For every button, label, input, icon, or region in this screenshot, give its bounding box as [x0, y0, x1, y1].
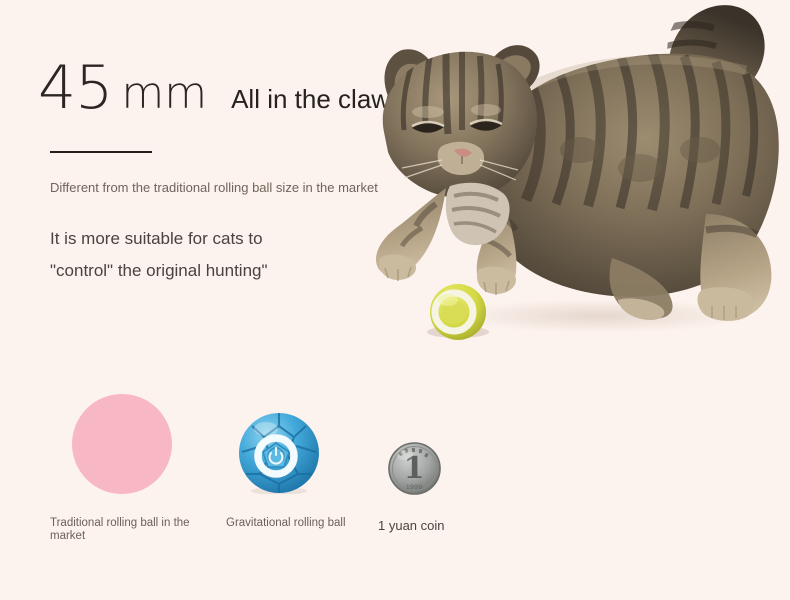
traditional-ball-caption: Traditional rolling ball in the market	[50, 517, 210, 544]
subtitle-line-1: It is more suitable for cats to	[50, 229, 263, 249]
coin-shape: 1 1999	[388, 442, 441, 495]
svg-text:1999: 1999	[406, 483, 423, 491]
subtitle-note: Different from the traditional rolling b…	[50, 180, 380, 195]
product-feature-banner: 45 mm All in the claw control Different …	[0, 0, 790, 600]
yellow-ball-illustration	[427, 284, 489, 340]
cat-product-photo	[350, 0, 790, 340]
coin-caption: 1 yuan coin	[378, 518, 488, 533]
size-number: 45	[38, 58, 112, 118]
subtitle-line-2: "control" the original hunting"	[50, 261, 268, 281]
divider	[50, 151, 152, 153]
gravitational-ball-caption: Gravitational rolling ball	[226, 517, 346, 530]
gravitational-ball-shape	[238, 412, 320, 494]
size-unit: mm	[121, 72, 207, 116]
traditional-ball-shape	[72, 394, 172, 494]
